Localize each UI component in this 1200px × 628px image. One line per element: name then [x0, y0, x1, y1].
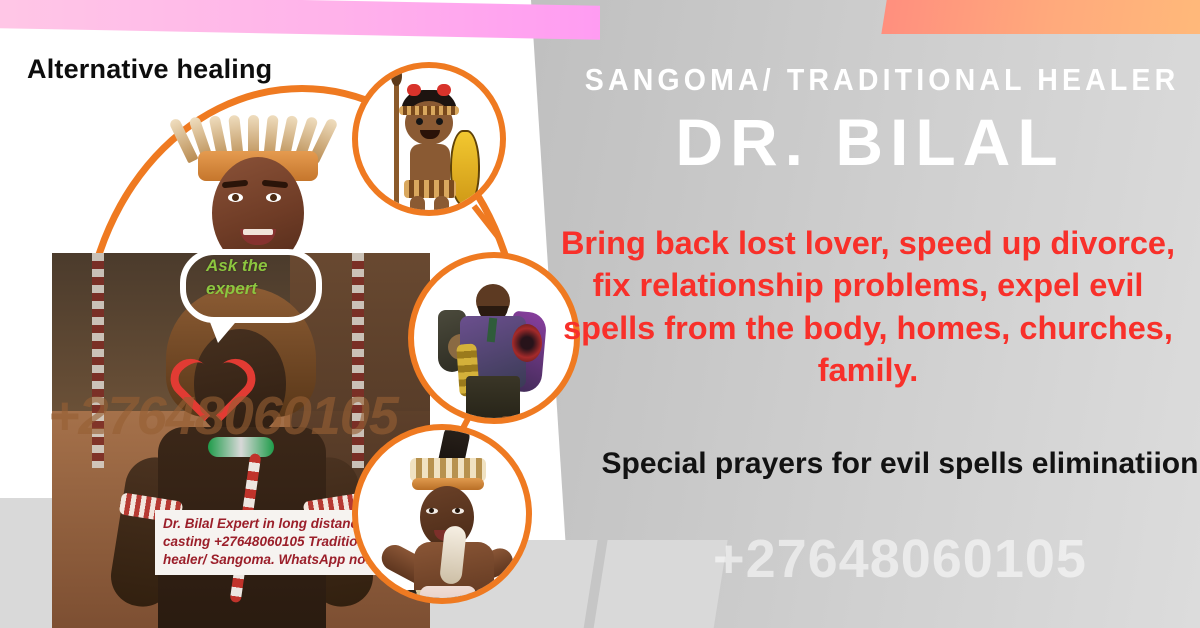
- healer-eye-right: [266, 193, 281, 202]
- services-text: Bring back lost lover, speed up divorce,…: [548, 222, 1188, 391]
- kicker-text: SANGOMA/ TRADITIONAL HEALER: [585, 62, 1155, 98]
- photo-person-beaded-necklace: [208, 437, 274, 457]
- healer2-shield-icon: [512, 324, 542, 362]
- warrior-skirt: [404, 180, 456, 198]
- headline-title: DR. BILAL: [560, 108, 1180, 177]
- poster-canvas: Alternative healing: [0, 0, 1200, 628]
- warrior3-eye-left: [426, 508, 438, 514]
- speech-bubble-text: Ask the expert: [206, 255, 316, 301]
- warrior-leg-left: [410, 196, 425, 216]
- healer2-pants: [466, 376, 520, 420]
- warrior-eye-right: [436, 118, 443, 125]
- warrior-eye-left: [416, 118, 423, 125]
- warrior-leg-right: [434, 196, 449, 216]
- phone-watermark: +27648060105: [600, 528, 1200, 590]
- page-title: Alternative healing: [27, 54, 272, 85]
- warrior-headband: [399, 106, 459, 115]
- photo-beaded-hanging-left: [92, 253, 104, 468]
- spear-icon: [394, 78, 399, 216]
- heart-icon: [193, 333, 267, 399]
- healer-eye-left: [228, 193, 243, 202]
- prayers-text: Special prayers for evil spells eliminat…: [600, 444, 1200, 484]
- crouching-warrior-illustration: [352, 424, 532, 604]
- top-orange-bar: [881, 0, 1200, 34]
- warrior3-eye-right: [452, 508, 464, 514]
- zulu-warrior-illustration: [352, 62, 506, 216]
